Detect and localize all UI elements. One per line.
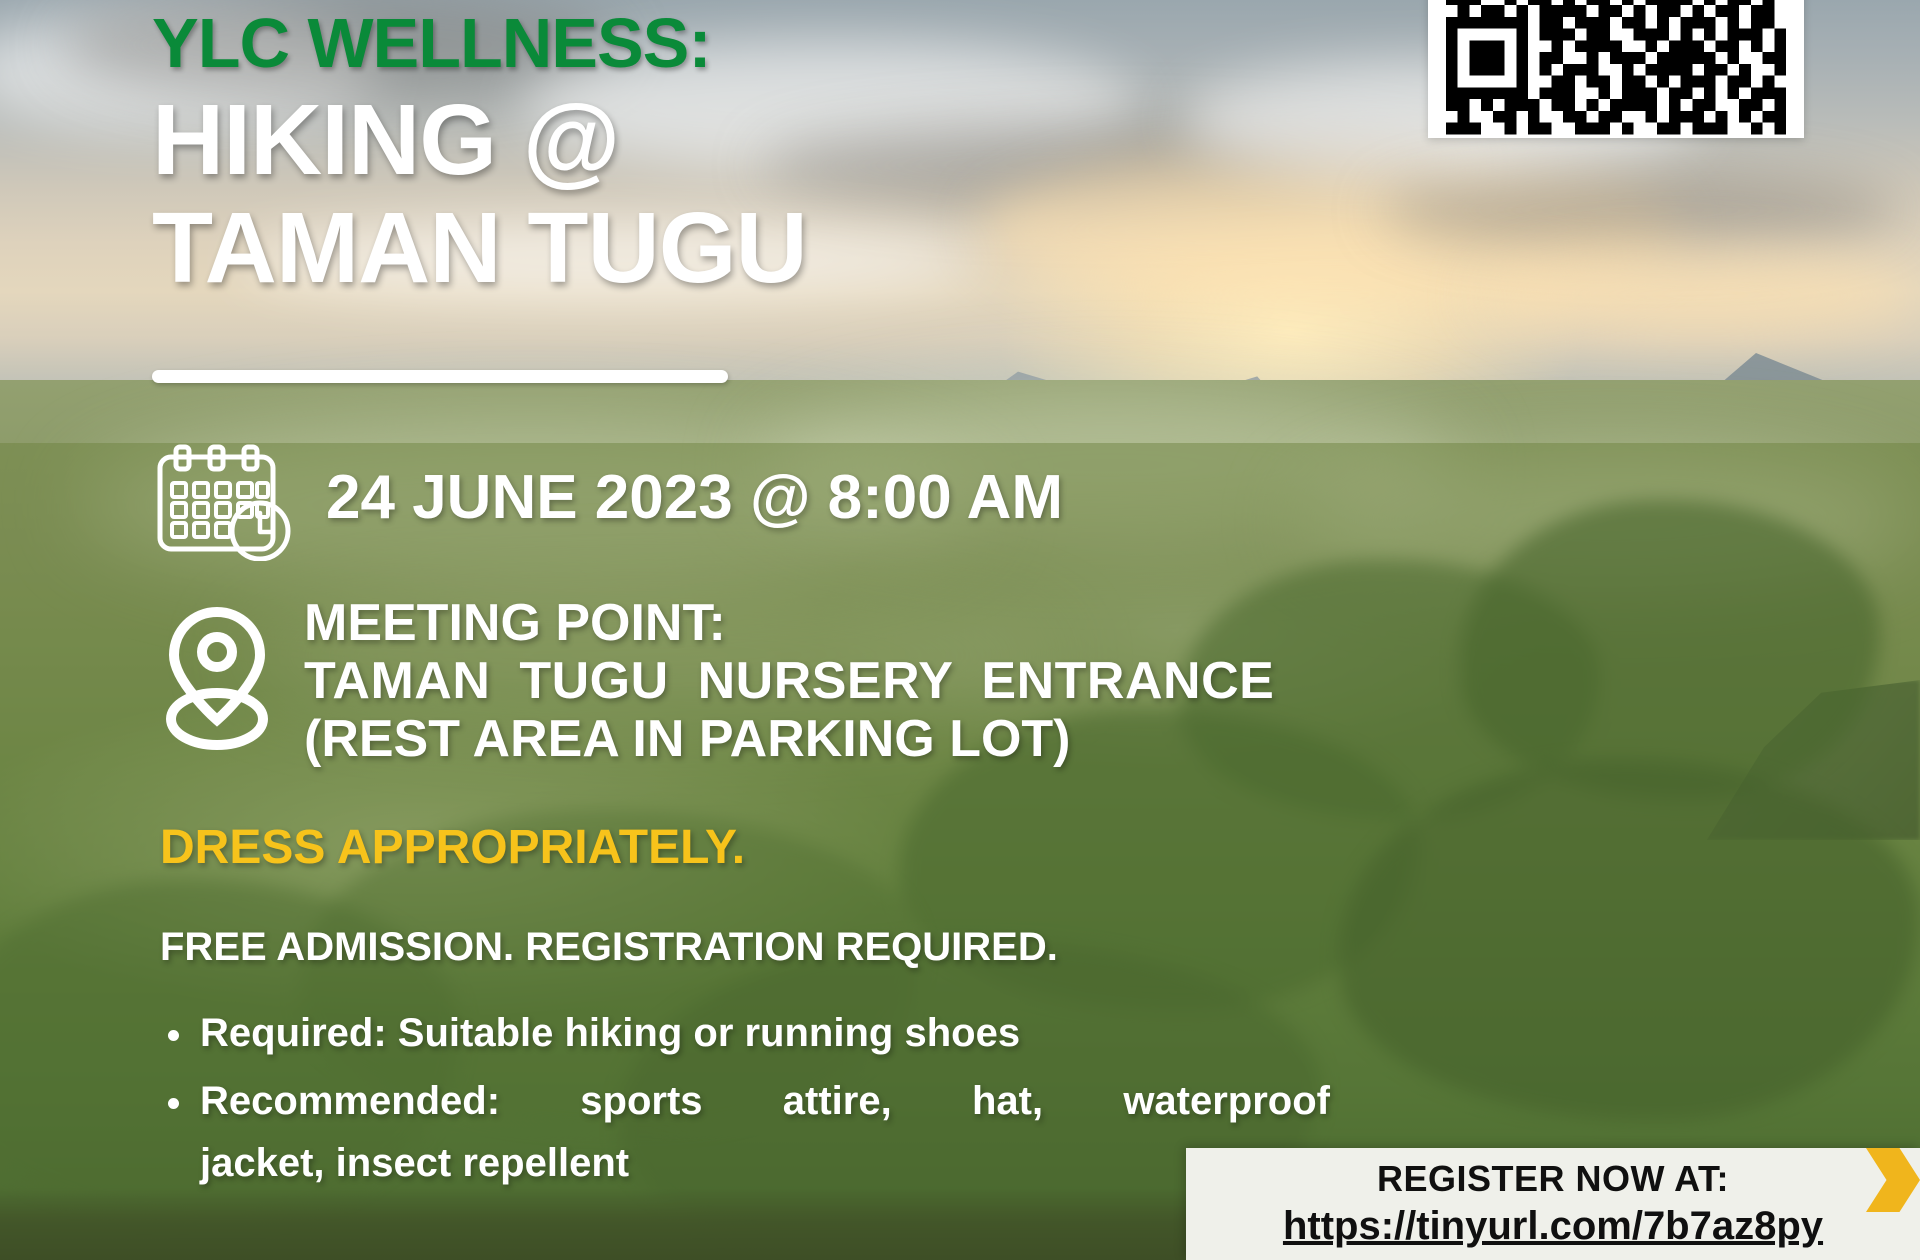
list-item: Recommended: sports attire, hat, waterpr… <box>160 1070 1340 1194</box>
calendar-clock-icon <box>150 443 300 561</box>
register-banner[interactable]: REGISTER NOW AT: https://tinyurl.com/7b7… <box>1186 1148 1920 1260</box>
event-date-row: 24 JUNE 2023 @ 8:00 AM <box>150 443 1063 561</box>
title-divider <box>152 370 728 383</box>
requirement-required: Required: Suitable hiking or running sho… <box>200 1011 1020 1055</box>
map-pin-icon <box>152 602 282 752</box>
poster-title-line-1: HIKING @ <box>152 86 1272 194</box>
meeting-point-text-group: MEETING POINT: TAMAN TUGU NURSERY ENTRAN… <box>304 592 1274 768</box>
qr-code-icon[interactable] <box>1428 0 1804 138</box>
poster-kicker: YLC WELLNESS: <box>152 0 1272 86</box>
register-url-link[interactable]: https://tinyurl.com/7b7az8py <box>1283 1201 1823 1251</box>
event-date-text: 24 JUNE 2023 @ 8:00 AM <box>326 463 1063 541</box>
list-item: Required: Suitable hiking or running sho… <box>160 1002 1340 1064</box>
poster-header: YLC WELLNESS: HIKING @ TAMAN TUGU <box>152 0 1272 302</box>
requirement-recommended-line-2: jacket, insect repellent <box>200 1141 629 1185</box>
meeting-point-line-2: (REST AREA IN PARKING LOT) <box>304 710 1274 768</box>
requirement-recommended-line-1: Recommended: sports attire, hat, waterpr… <box>200 1070 1330 1132</box>
dress-code-note: DRESS APPROPRIATELY. <box>160 820 1340 875</box>
requirements-list: Required: Suitable hiking or running sho… <box>160 1002 1340 1194</box>
meeting-point-label: MEETING POINT: <box>304 594 1274 652</box>
meeting-point-row: MEETING POINT: TAMAN TUGU NURSERY ENTRAN… <box>152 592 1274 768</box>
poster-canvas: YLC WELLNESS: HIKING @ TAMAN TUGU <box>0 0 1920 1260</box>
register-banner-title: REGISTER NOW AT: <box>1377 1157 1729 1201</box>
meeting-point-line-1: TAMAN TUGU NURSERY ENTRANCE <box>304 652 1274 710</box>
poster-title-line-2: TAMAN TUGU <box>152 194 1272 302</box>
admission-note: FREE ADMISSION. REGISTRATION REQUIRED. <box>160 925 1340 970</box>
notes-section: DRESS APPROPRIATELY. FREE ADMISSION. REG… <box>160 820 1340 1200</box>
qr-code-matrix <box>1430 0 1802 138</box>
